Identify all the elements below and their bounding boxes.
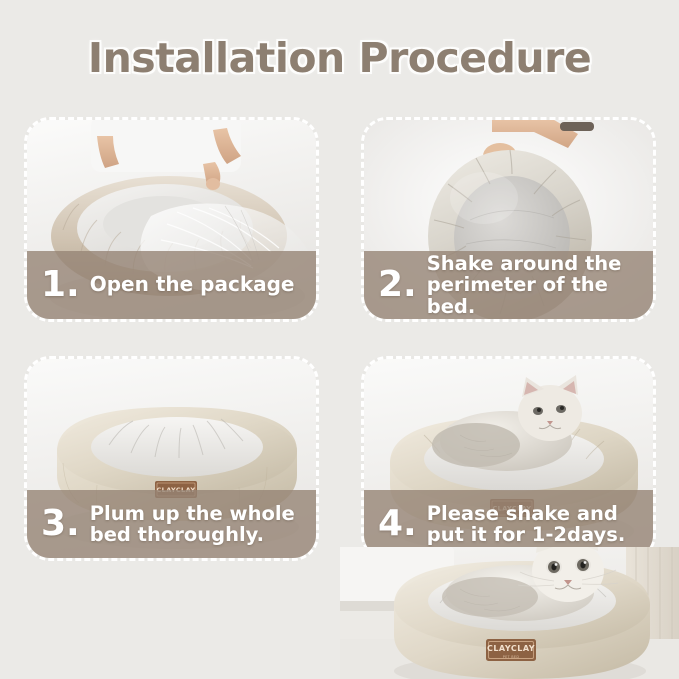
page-title-container: Installation Procedure: [0, 34, 679, 82]
page-title: Installation Procedure: [88, 34, 591, 82]
svg-text:PET BED: PET BED: [503, 655, 520, 659]
step-2-number: 2.: [378, 267, 417, 303]
step-3-caption: 3. Plum up the whole bed thoroughly.: [27, 490, 316, 558]
hero-illustration: CLAYCLAY PET BED: [340, 547, 679, 679]
step-3-number: 3.: [41, 506, 80, 542]
step-card-1[interactable]: 1. Open the package: [24, 117, 319, 322]
step-3-text: Plum up the whole bed thoroughly.: [90, 503, 295, 545]
steps-grid: 1. Open the package: [24, 117, 656, 557]
step-4-number: 4.: [378, 506, 417, 542]
step-2-caption: 2. Shake around the perimeter of the bed…: [364, 251, 653, 319]
hero-photo: CLAYCLAY PET BED: [340, 547, 679, 679]
step-1-caption: 1. Open the package: [27, 251, 316, 319]
step-card-2[interactable]: 2. Shake around the perimeter of the bed…: [361, 117, 656, 322]
brand-tag-hero: CLAYCLAY PET BED: [486, 639, 536, 661]
step-1-number: 1.: [41, 267, 80, 303]
svg-text:CLAYCLAY: CLAYCLAY: [487, 644, 535, 653]
step-card-3[interactable]: CLAYCLAY 3. Plum up the whole bed thorou…: [24, 356, 319, 561]
step-1-text: Open the package: [90, 274, 295, 296]
step-card-4[interactable]: CLAYCLAY 4. Please shake and put it for …: [361, 356, 656, 561]
step-2-text: Shake around the perimeter of the bed.: [427, 253, 653, 316]
step-4-text: Please shake and put it for 1-2days.: [427, 503, 626, 545]
